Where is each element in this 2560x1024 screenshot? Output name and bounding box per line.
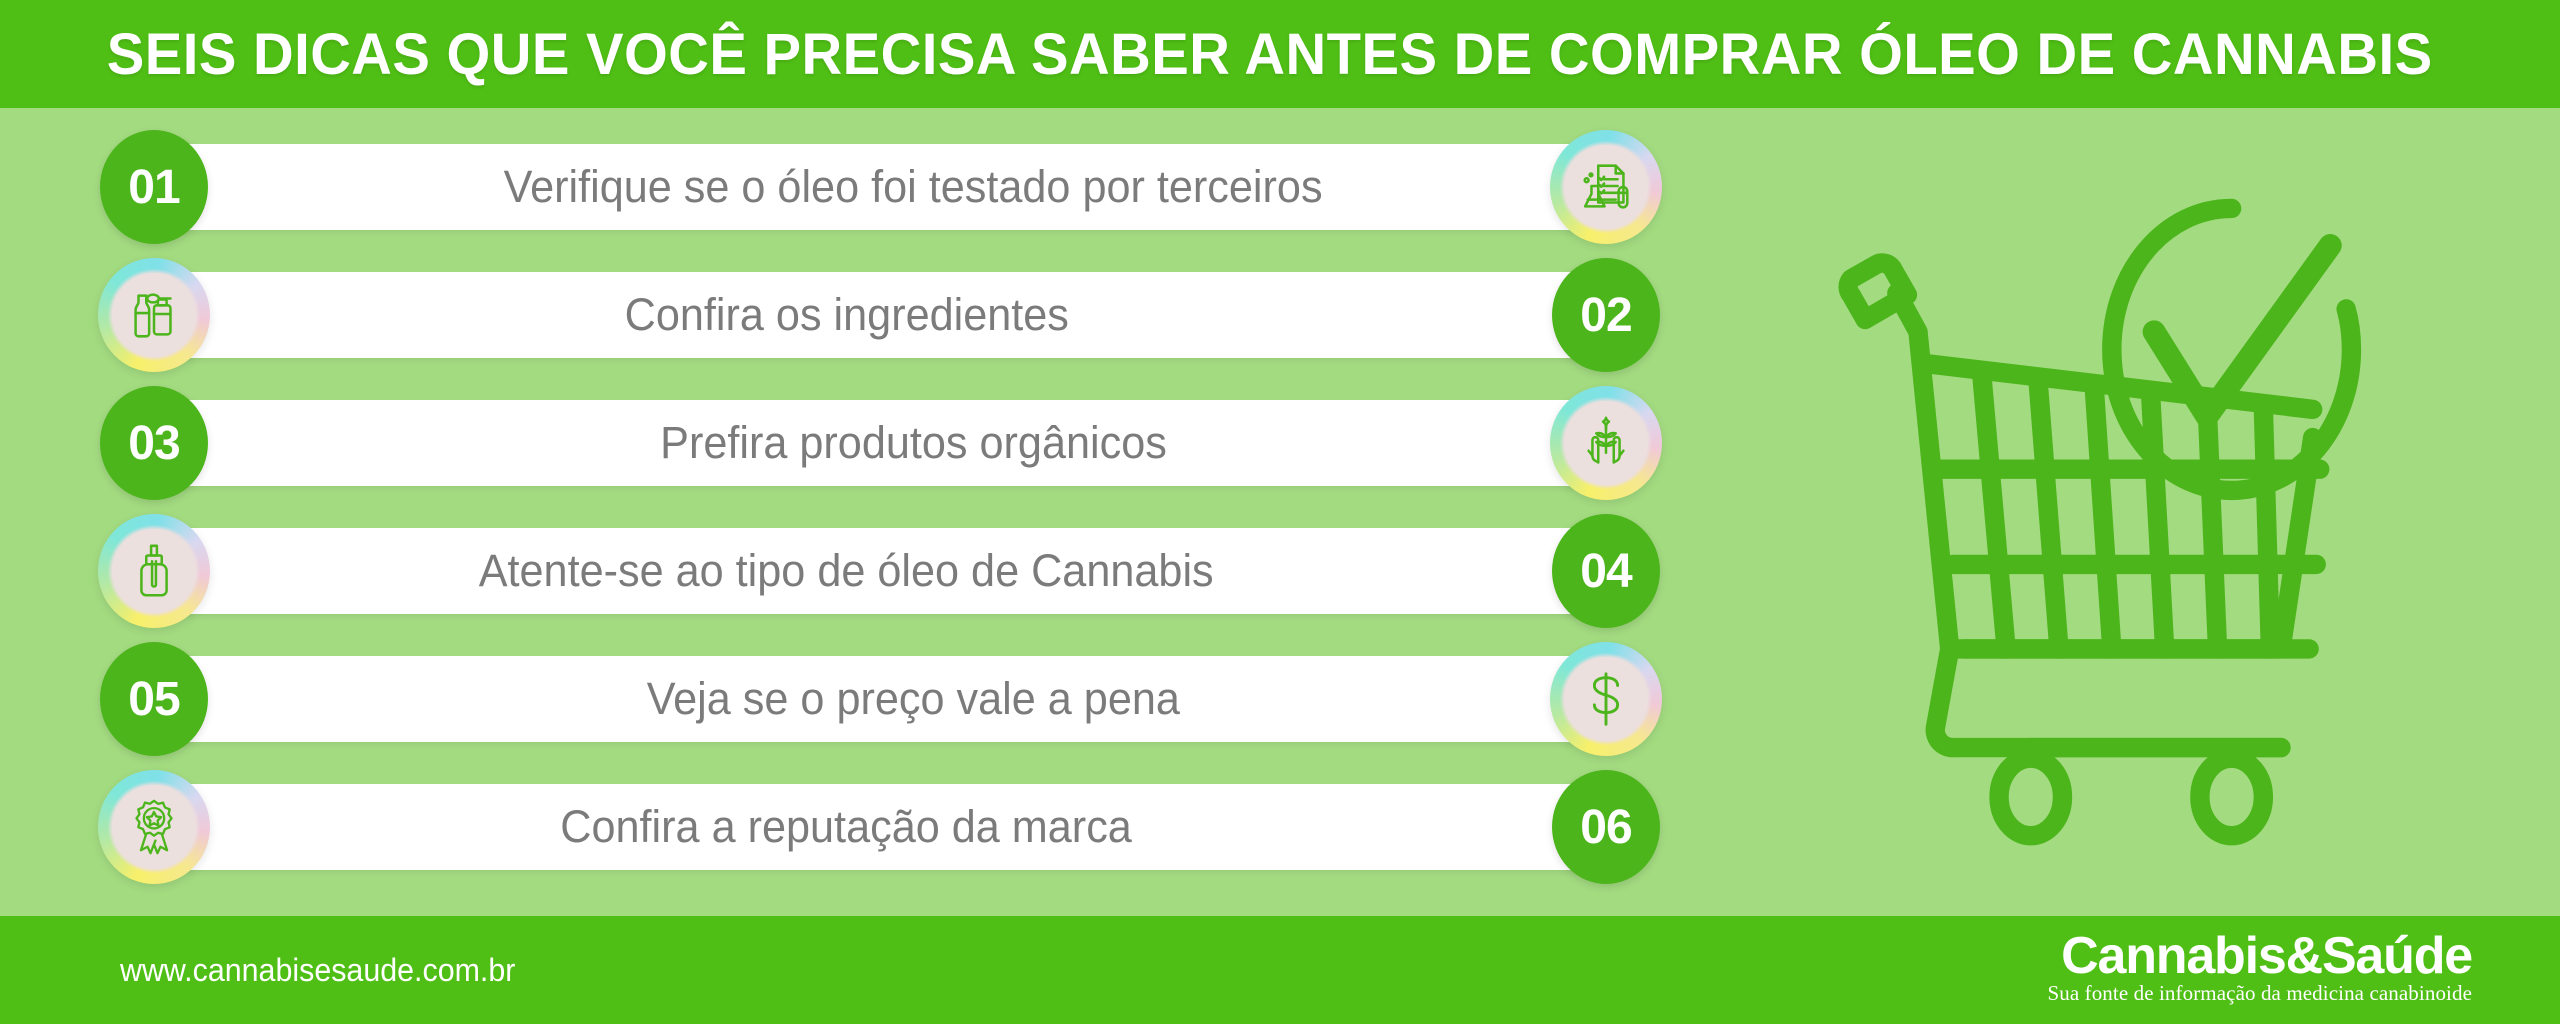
- tip-bar: Confira os ingredientes: [146, 272, 1614, 358]
- list-item[interactable]: Prefira produtos orgânicos 03: [100, 386, 1660, 500]
- website-url[interactable]: www.cannabisesaude.com.br: [120, 952, 515, 989]
- main-content: Verifique se o óleo foi testado por terc…: [0, 108, 2560, 916]
- tip-number-badge: 01: [100, 130, 208, 244]
- icon-inner: [112, 273, 196, 357]
- list-item[interactable]: Atente-se ao tipo de óleo de Cannabis 04: [100, 514, 1660, 628]
- bottles-spoon-icon: [98, 258, 210, 372]
- icon-inner: [1564, 401, 1648, 485]
- icon-inner: [1564, 657, 1648, 741]
- tip-bar: Atente-se ao tipo de óleo de Cannabis: [146, 528, 1614, 614]
- tip-number-badge: 06: [1552, 770, 1660, 884]
- list-item[interactable]: Confira os ingredientes 02: [100, 258, 1660, 372]
- tip-bar: Confira a reputação da marca: [146, 784, 1614, 870]
- tip-bar: Veja se o preço vale a pena: [146, 656, 1614, 742]
- icon-inner: [1564, 145, 1648, 229]
- tip-number-badge: 02: [1552, 258, 1660, 372]
- dollar-sign-icon: [1550, 642, 1662, 756]
- tip-text: Veja se o preço vale a pena: [580, 673, 1180, 725]
- logo-name: Cannabis&Saúde: [2047, 930, 2472, 983]
- tip-bar: Verifique se o óleo foi testado por terc…: [146, 144, 1614, 230]
- dropper-bottle-icon: [98, 514, 210, 628]
- list-item[interactable]: Veja se o preço vale a pena 05: [100, 642, 1660, 756]
- hands-plant-icon: [1550, 386, 1662, 500]
- lab-test-checklist-icon: [1550, 130, 1662, 244]
- tip-text: Confira os ingredientes: [624, 289, 1135, 341]
- list-item[interactable]: Verifique se o óleo foi testado por terc…: [100, 130, 1660, 244]
- tip-text: Verifique se o óleo foi testado por terc…: [437, 161, 1323, 213]
- list-item[interactable]: Confira a reputação da marca 06: [100, 770, 1660, 884]
- brand-logo: Cannabis&Saúde Sua fonte de informação d…: [2047, 930, 2472, 1006]
- tip-number-badge: 03: [100, 386, 208, 500]
- tip-text: Confira a reputação da marca: [561, 801, 1200, 853]
- tip-text: Prefira produtos orgânicos: [593, 417, 1167, 469]
- tip-bar: Prefira produtos orgânicos: [146, 400, 1614, 486]
- page-title: SEIS DICAS QUE VOCÊ PRECISA SABER ANTES …: [0, 21, 2433, 88]
- icon-inner: [112, 785, 196, 869]
- tips-list: Verifique se o óleo foi testado por terc…: [100, 130, 1660, 900]
- tip-text: Atente-se ao tipo de óleo de Cannabis: [479, 545, 1281, 597]
- footer-bar: www.cannabisesaude.com.br Cannabis&Saúde…: [0, 916, 2560, 1024]
- shopping-cart-check-icon: [1760, 138, 2520, 878]
- header-bar: SEIS DICAS QUE VOCÊ PRECISA SABER ANTES …: [0, 0, 2560, 108]
- tip-number-badge: 04: [1552, 514, 1660, 628]
- icon-inner: [112, 529, 196, 613]
- logo-tagline: Sua fonte de informação da medicina cana…: [2047, 981, 2472, 1006]
- award-ribbon-icon: [98, 770, 210, 884]
- tip-number-badge: 05: [100, 642, 208, 756]
